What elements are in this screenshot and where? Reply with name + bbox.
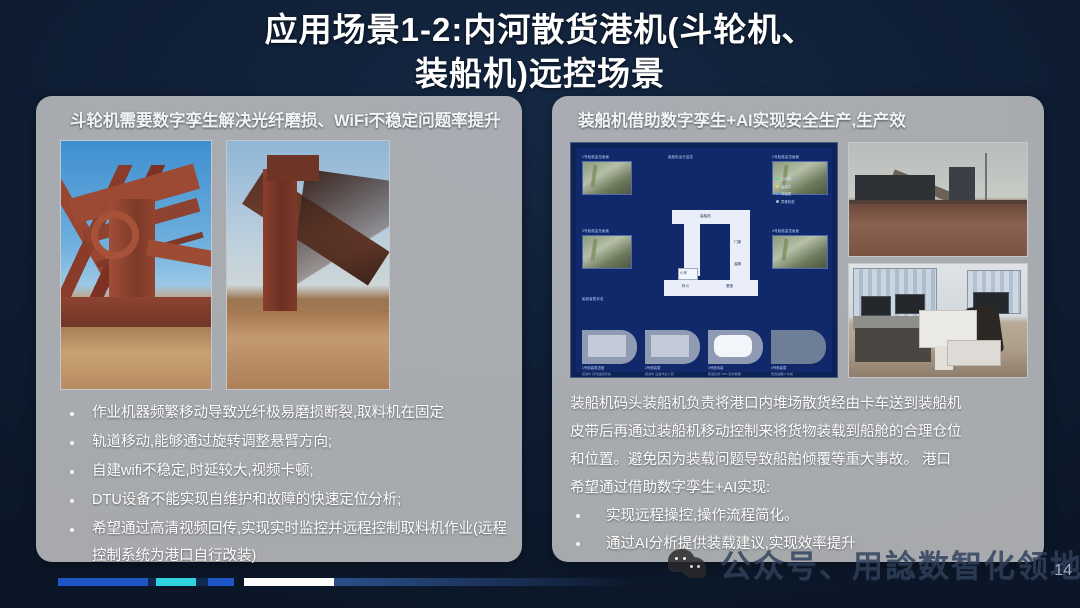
ship-loader-dashboard-screenshot: 1号船舱监控画面 装船机运行监控 2号船舱监控画面 3号船舱监控画面 4号船舱监… bbox=[570, 142, 838, 378]
list-item: 实现远程操控,操作流程简化。 bbox=[570, 502, 1028, 530]
hold-sub-label: 装载中 实时监控状态 bbox=[582, 371, 611, 376]
body-line: 和位置。避免因为装载问题导致船舶倾覆等重大事故。 港口 bbox=[570, 446, 1028, 474]
hold-label: 3号舱待装 bbox=[708, 365, 723, 370]
legend-label: 已装载 bbox=[781, 176, 791, 181]
photo-bucket-wheel-reclaimer-front bbox=[60, 140, 212, 390]
right-card-header: 装船机借助数字孪生+AI实现安全生产,生产效 bbox=[578, 108, 1048, 134]
dashboard-camera-feed bbox=[772, 235, 828, 269]
watermark-text: 公众号、用諗数智化领地 bbox=[720, 541, 1080, 586]
legend-label: 待装载 bbox=[781, 191, 791, 196]
dashboard-camera-feed bbox=[582, 235, 632, 269]
dashboard-loader-diagram: 装船机 门架 溜筒 小车 料斗 基座 bbox=[660, 210, 762, 302]
slide-root: 应用场景1-2:内河散货港机(斗轮机、 装船机)远控场景 斗轮机需要数字孪生解决… bbox=[0, 0, 1080, 608]
left-card-header: 斗轮机需要数字孪生解决光纤磨损、WiFi不稳定问题率提升 bbox=[70, 108, 590, 134]
legend-item: 装载中 bbox=[776, 184, 795, 189]
legend-color-swatch bbox=[776, 185, 779, 188]
legend-color-swatch bbox=[776, 200, 779, 203]
right-card: 装船机借助数字孪生+AI实现安全生产,生产效 1号船舱监控画面 装船机运行监控 … bbox=[552, 96, 1044, 562]
legend-color-swatch bbox=[776, 177, 779, 180]
page-title-line-2: 装船机)远控场景 bbox=[0, 52, 1080, 96]
ship-hold-card: 2号舱装载 装载中 设备作业人员 bbox=[645, 330, 700, 364]
legend-item: 异常状态 bbox=[776, 199, 795, 204]
hold-label: 4号舱装载 bbox=[771, 365, 786, 370]
photo-bucket-wheel-reclaimer-side bbox=[226, 140, 390, 390]
legend-color-swatch bbox=[776, 192, 779, 195]
diagram-label: 溜筒 bbox=[734, 262, 741, 267]
page-title-line-1: 应用场景1-2:内河散货港机(斗轮机、 bbox=[0, 8, 1080, 52]
legend-label: 装载中 bbox=[781, 184, 791, 189]
dashboard-panel-label: 1号船舱监控画面 bbox=[582, 154, 609, 159]
hold-sub-label: 警告提醒/4 状态 bbox=[771, 371, 793, 376]
legend-item: 待装载 bbox=[776, 191, 795, 196]
list-item: 轨道移动,能够通过旋转调整悬臂方向; bbox=[58, 429, 510, 456]
diagram-label: 基座 bbox=[726, 284, 733, 289]
bar-segment-fade bbox=[334, 578, 634, 586]
list-item: 作业机器频繁移动导致光纤极易磨损断裂,取料机在固定 bbox=[58, 400, 510, 427]
bar-segment-white bbox=[244, 578, 334, 586]
dashboard-legend: 已装载 装载中 待装载 异常状态 bbox=[776, 176, 795, 206]
ship-hold-card: 3号舱待装 装载比例 75% 实时数据 bbox=[708, 330, 763, 364]
legend-item: 已装载 bbox=[776, 176, 795, 181]
wechat-icon bbox=[668, 549, 708, 579]
legend-label: 异常状态 bbox=[781, 199, 795, 204]
dashboard-camera-feed bbox=[582, 161, 632, 195]
photo-remote-control-room bbox=[848, 263, 1028, 378]
bar-segment-dark bbox=[196, 578, 208, 586]
dashboard-panel-label: 装船机运行监控 bbox=[668, 154, 693, 159]
left-photo-row bbox=[60, 140, 390, 390]
page-title: 应用场景1-2:内河散货港机(斗轮机、 装船机)远控场景 bbox=[0, 8, 1080, 96]
hold-label: 1号舱装载进度 bbox=[582, 365, 604, 370]
diagram-label: 门架 bbox=[734, 240, 741, 245]
photo-ship-loader-dock bbox=[848, 142, 1028, 257]
watermark: 公众号、用諗数智化领地 bbox=[668, 541, 1080, 586]
dashboard-panel-label: 船舱装载状态 bbox=[582, 296, 604, 301]
body-line: 装船机码头装船机负责将港口内堆场散货经由卡车送到装船机 bbox=[570, 390, 1028, 418]
bar-segment-dark bbox=[148, 578, 156, 586]
dashboard-panel-label: 3号船舱监控画面 bbox=[582, 228, 609, 233]
hold-label: 2号舱装载 bbox=[645, 365, 660, 370]
body-line: 皮带后再通过装船机移动控制来将货物装载到船舱的合理仓位 bbox=[570, 418, 1028, 446]
list-item: DTU设备不能实现自维护和故障的快速定位分析; bbox=[58, 487, 510, 514]
diagram-label: 装船机 bbox=[700, 214, 711, 219]
dashboard-panel-label: 2号船舱监控画面 bbox=[772, 154, 799, 159]
diagram-label: 小车 bbox=[680, 271, 687, 276]
ship-hold-card: 4号舱装载 警告提醒/4 状态 bbox=[771, 330, 826, 364]
ship-hold-card: 1号舱装载进度 装载中 实时监控状态 bbox=[582, 330, 637, 364]
hold-sub-label: 装载中 设备作业人员 bbox=[645, 371, 674, 376]
dashboard-panel-label: 4号船舱监控画面 bbox=[772, 228, 799, 233]
bar-segment-cyan bbox=[156, 578, 196, 586]
page-number: 14 bbox=[1054, 562, 1072, 580]
left-card: 斗轮机需要数字孪生解决光纤磨损、WiFi不稳定问题率提升 bbox=[36, 96, 522, 562]
hold-sub-label: 装载比例 75% 实时数据 bbox=[708, 371, 741, 376]
bar-segment-blue bbox=[208, 578, 234, 586]
diagram-label: 料斗 bbox=[682, 284, 689, 289]
body-line: 希望通过借助数字孪生+AI实现: bbox=[570, 474, 1028, 502]
list-item: 自建wifi不稳定,时延较大,视频卡顿; bbox=[58, 458, 510, 485]
bar-segment-blue bbox=[58, 578, 148, 586]
list-item: 希望通过高清视频回传,实现实时监控并远程控制取料机作业(远程控制系统为港口自行改… bbox=[58, 516, 510, 570]
left-bullet-list: 作业机器频繁移动导致光纤极易磨损断裂,取料机在固定 轨道移动,能够通过旋转调整悬… bbox=[58, 400, 510, 572]
right-card-body: 装船机码头装船机负责将港口内堆场散货经由卡车送到装船机 皮带后再通过装船机移动控… bbox=[570, 390, 1028, 558]
dashboard-hold-row: 1号舱装载进度 装载中 实时监控状态 2号舱装载 装载中 设备作业人员 3号舱待… bbox=[582, 330, 826, 364]
